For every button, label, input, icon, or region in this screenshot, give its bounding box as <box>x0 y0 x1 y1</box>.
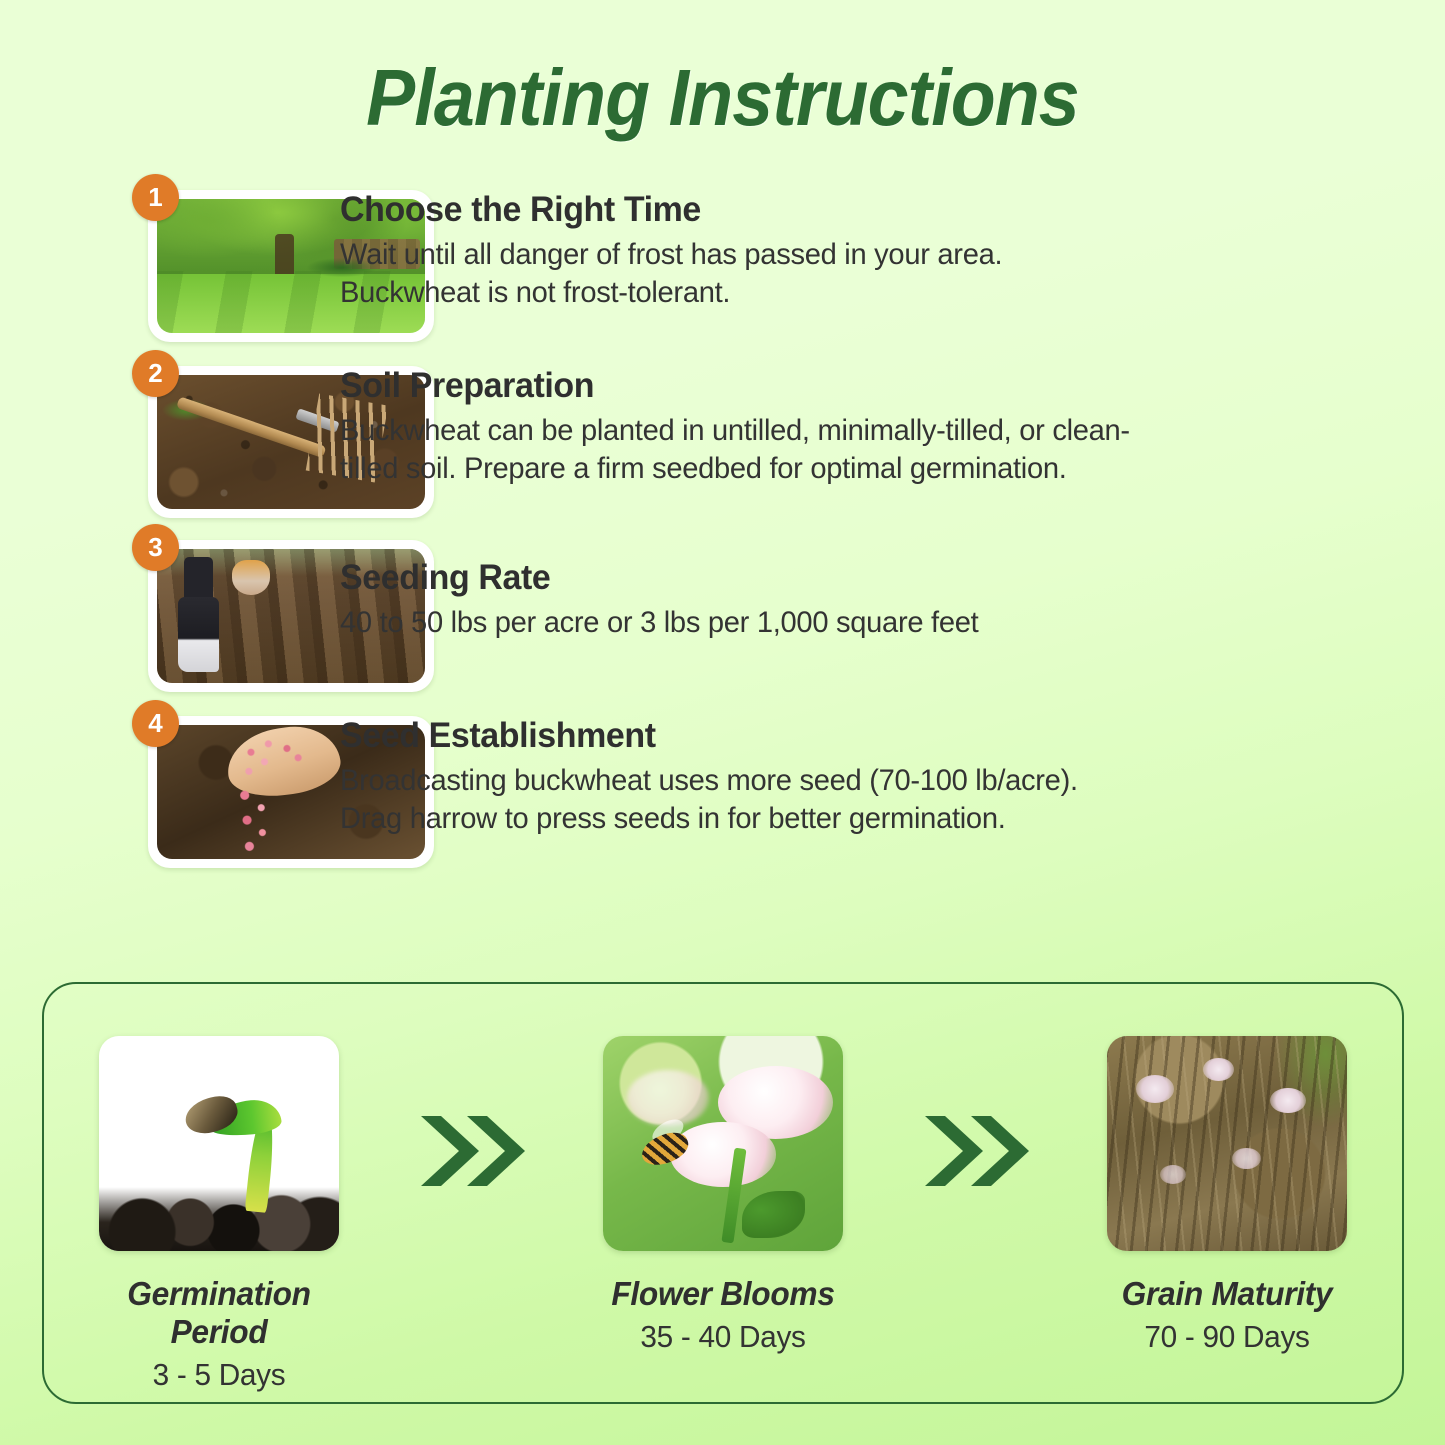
steps-list: 1 Choose the Right Time Wait until all d… <box>0 174 1445 868</box>
timeline-stage: Flower Blooms 35 - 40 Days <box>594 1036 852 1355</box>
step-item: 4 Seed Establishment Broadcasting buckwh… <box>0 700 1401 868</box>
step-body: Broadcasting buckwheat uses more seed (7… <box>340 762 1145 839</box>
double-chevron-right-icon <box>916 1108 1034 1194</box>
timeline-stage-label: Grain Maturity <box>1103 1275 1351 1313</box>
step-text-block: Choose the Right Time Wait until all dan… <box>320 174 1401 313</box>
step-number-badge: 4 <box>132 700 179 747</box>
sprouting-seed-photo <box>99 1036 339 1251</box>
buckwheat-flowers-with-bee-photo <box>603 1036 843 1251</box>
step-body: Buckwheat can be planted in untilled, mi… <box>340 412 1145 489</box>
step-text-block: Seeding Rate 40 to 50 lbs per acre or 3 … <box>320 524 1401 642</box>
timeline-stage-label: Flower Blooms <box>599 1275 847 1313</box>
double-chevron-right-icon <box>412 1108 530 1194</box>
step-body: 40 to 50 lbs per acre or 3 lbs per 1,000… <box>340 604 1145 642</box>
step-text-block: Seed Establishment Broadcasting buckwhea… <box>320 700 1401 839</box>
timeline-stage: Germination Period 3 - 5 Days <box>90 1036 348 1393</box>
step-thumbnail-wrapper: 2 <box>0 350 320 518</box>
timeline-stage-value: 35 - 40 Days <box>599 1319 847 1355</box>
step-thumbnail-wrapper: 4 <box>0 700 320 868</box>
step-item: 2 Soil Preparation Buckwheat can be plan… <box>0 350 1401 518</box>
growth-timeline-panel: Germination Period 3 - 5 Days Flower Blo… <box>42 982 1404 1404</box>
step-number-badge: 1 <box>132 174 179 221</box>
step-body: Wait until all danger of frost has passe… <box>340 236 1145 313</box>
step-text-block: Soil Preparation Buckwheat can be plante… <box>320 350 1401 489</box>
mature-buckwheat-grain-photo <box>1107 1036 1347 1251</box>
timeline-stage-label: Germination Period <box>95 1275 343 1351</box>
step-thumbnail-wrapper: 3 <box>0 524 320 692</box>
step-title: Soil Preparation <box>340 366 1369 406</box>
step-title: Seed Establishment <box>340 716 1369 756</box>
step-item: 3 Seeding Rate 40 to 50 lbs per acre or … <box>0 524 1401 692</box>
step-number-badge: 2 <box>132 350 179 397</box>
step-title: Choose the Right Time <box>340 190 1369 230</box>
step-number-badge: 3 <box>132 524 179 571</box>
timeline-stage-value: 3 - 5 Days <box>95 1357 343 1393</box>
page-title: Planting Instructions <box>58 0 1387 138</box>
step-item: 1 Choose the Right Time Wait until all d… <box>0 174 1401 342</box>
timeline-stage: Grain Maturity 70 - 90 Days <box>1098 1036 1356 1355</box>
step-title: Seeding Rate <box>340 558 1369 598</box>
step-thumbnail-wrapper: 1 <box>0 174 320 342</box>
timeline-stage-value: 70 - 90 Days <box>1103 1319 1351 1355</box>
